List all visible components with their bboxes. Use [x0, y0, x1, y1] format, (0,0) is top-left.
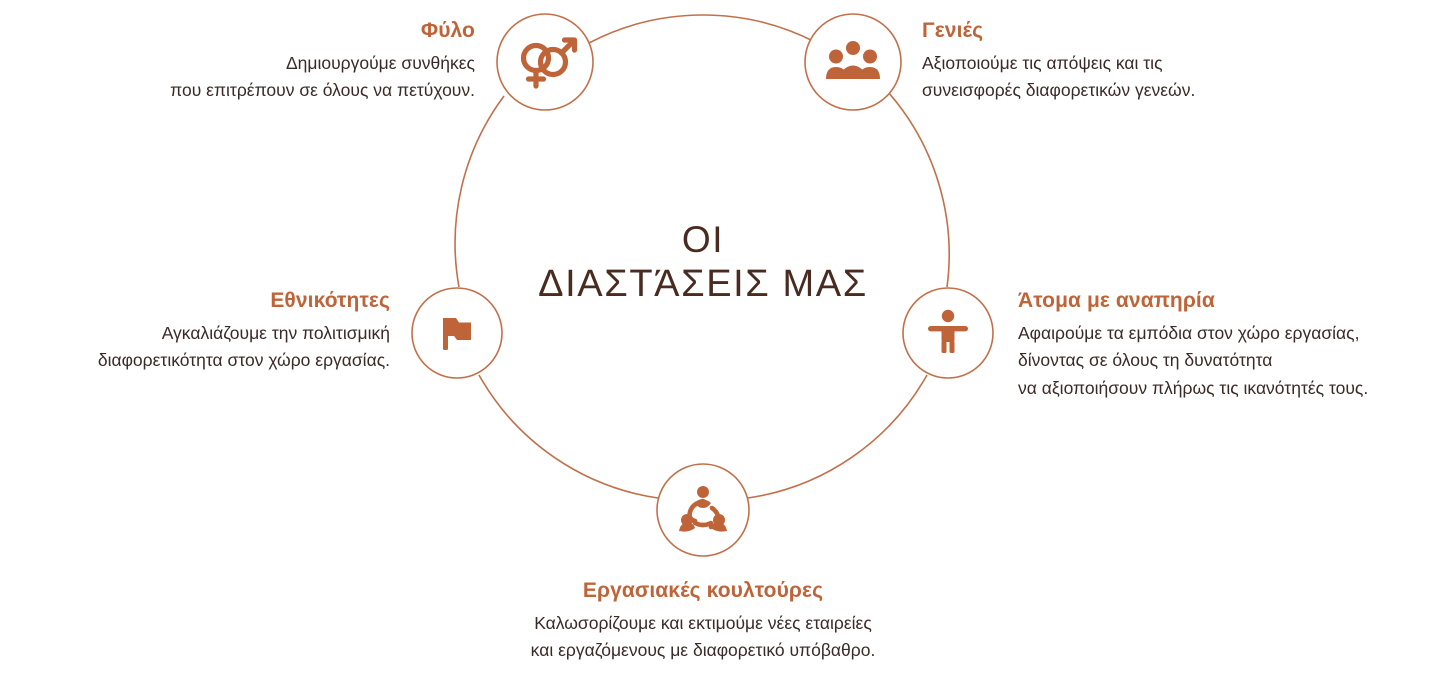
- node-circle-workcultures: [657, 464, 749, 556]
- label-desc-ethnicities: Αγκαλιάζουμε την πολιτισμική διαφορετικό…: [20, 320, 390, 374]
- label-desc-generations: Αξιοποιούμε τις απόψεις και τις συνεισφο…: [922, 50, 1392, 104]
- label-desc-line: Αξιοποιούμε τις απόψεις και τις: [922, 50, 1392, 77]
- label-desc-line: να αξιοποιήσουν πλήρως τις ικανότητές το…: [1018, 375, 1438, 402]
- arc-disability-to-workcultures: [748, 375, 927, 498]
- arc-ethnicities-to-gender: [455, 96, 504, 287]
- arc-generations-to-disability: [888, 92, 949, 287]
- label-title-workcultures: Εργασιακές κουλτούρες: [423, 578, 983, 604]
- label-title-gender: Φύλο: [50, 18, 475, 44]
- node-ethnicities[interactable]: [412, 288, 502, 378]
- label-title-generations: Γενιές: [922, 18, 1392, 44]
- node-disability[interactable]: [903, 288, 993, 378]
- label-desc-line: συνεισφορές διαφορετικών γενεών.: [922, 77, 1392, 104]
- diversity-dimensions-diagram: ΟΙ ΔΙΑΣΤΆΣΕΙΣ ΜΑΣ Φύλο Δημιουργούμε συνθ…: [0, 0, 1440, 688]
- label-title-disability: Άτομα με αναπηρία: [1018, 288, 1438, 314]
- label-desc-line: και εργαζόμενους με διαφορετικό υπόβαθρο…: [423, 637, 983, 664]
- arc-workcultures-to-ethnicities: [479, 375, 658, 498]
- node-generations[interactable]: [805, 14, 901, 110]
- label-desc-line: διαφορετικότητα στον χώρο εργασίας.: [20, 347, 390, 374]
- node-workcultures[interactable]: [657, 464, 749, 556]
- label-desc-line: Αφαιρούμε τα εμπόδια στον χώρο εργασίας,: [1018, 320, 1438, 347]
- label-desc-line: που επιτρέπουν σε όλους να πετύχουν.: [50, 77, 475, 104]
- label-block-generations: Γενιές Αξιοποιούμε τις απόψεις και τις σ…: [922, 18, 1392, 105]
- label-desc-gender: Δημιουργούμε συνθήκες που επιτρέπουν σε …: [50, 50, 475, 104]
- label-block-gender: Φύλο Δημιουργούμε συνθήκες που επιτρέπου…: [50, 18, 475, 105]
- node-circle-gender: [497, 14, 593, 110]
- label-desc-line: Καλωσορίζουμε και εκτιμούμε νέες εταιρεί…: [423, 610, 983, 637]
- label-block-workcultures: Εργασιακές κουλτούρες Καλωσορίζουμε και …: [423, 578, 983, 665]
- label-desc-line: Δημιουργούμε συνθήκες: [50, 50, 475, 77]
- node-gender[interactable]: [497, 14, 593, 110]
- label-desc-line: Αγκαλιάζουμε την πολιτισμική: [20, 320, 390, 347]
- label-block-ethnicities: Εθνικότητες Αγκαλιάζουμε την πολιτισμική…: [20, 288, 390, 375]
- label-desc-disability: Αφαιρούμε τα εμπόδια στον χώρο εργασίας,…: [1018, 320, 1438, 401]
- label-desc-workcultures: Καλωσορίζουμε και εκτιμούμε νέες εταιρεί…: [423, 610, 983, 664]
- arc-gender-to-generations: [589, 15, 817, 43]
- label-title-ethnicities: Εθνικότητες: [20, 288, 390, 314]
- label-block-disability: Άτομα με αναπηρία Αφαιρούμε τα εμπόδια σ…: [1018, 288, 1438, 402]
- label-desc-line: δίνοντας σε όλους τη δυνατότητα: [1018, 347, 1438, 374]
- node-circle-generations: [805, 14, 901, 110]
